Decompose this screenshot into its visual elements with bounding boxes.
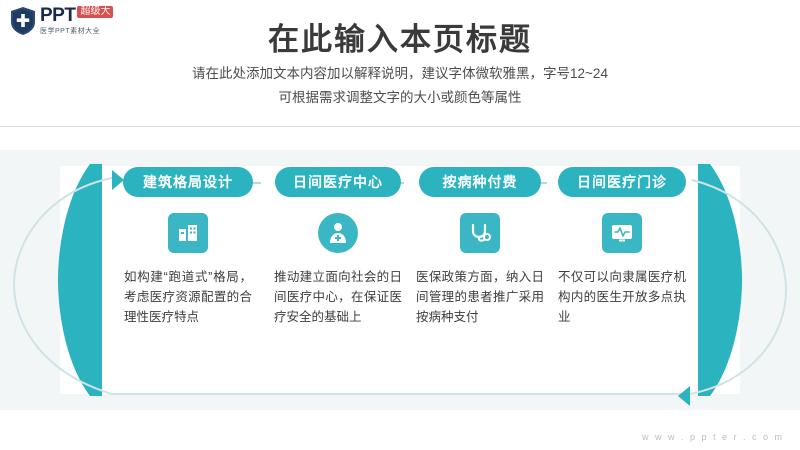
stethoscope-icon <box>460 213 500 253</box>
header-divider <box>0 126 800 127</box>
step-2-description: 推动建立面向社会的日间医疗中心，在保证医疗安全的基础上 <box>262 267 414 327</box>
building-layout-icon <box>168 213 208 253</box>
step-3-label[interactable]: 按病种付费 <box>419 167 541 197</box>
process-step-4[interactable]: 日间医疗门诊 不仅可以向隶属医疗机构内的医生开放多点执业 <box>546 150 698 327</box>
subtitle-line-1: 请在此处添加文本内容加以解释说明，建议字体微软雅黑，字号12~24 <box>0 62 800 86</box>
step-2-icon-wrap <box>262 213 414 253</box>
step-1-label[interactable]: 建筑格局设计 <box>123 167 253 197</box>
step-3-description: 医保政策方面，纳入日间管理的患者推广采用按病种支付 <box>404 267 556 327</box>
subtitle-line-2: 可根据需求调整文字的大小或颜色等属性 <box>0 86 800 110</box>
doctor-person-icon <box>318 213 358 253</box>
footer-site-url: w w w . p p t e r . c o m <box>642 432 784 442</box>
page-subtitle: 请在此处添加文本内容加以解释说明，建议字体微软雅黑，字号12~24 可根据需求调… <box>0 62 800 110</box>
step-4-icon-wrap <box>546 213 698 253</box>
page-title: 在此输入本页标题 <box>0 14 800 59</box>
process-columns: 建筑格局设计 如构建“跑道式”格局，考虑医疗资源配置的合理性医疗特点 日间医疗中… <box>0 150 800 410</box>
heartbeat-monitor-icon <box>602 213 642 253</box>
step-4-description: 不仅可以向隶属医疗机构内的医生开放多点执业 <box>546 267 698 327</box>
process-step-2[interactable]: 日间医疗中心 推动建立面向社会的日间医疗中心，在保证医疗安全的基础上 <box>262 150 414 327</box>
step-4-label[interactable]: 日间医疗门诊 <box>558 167 686 197</box>
process-step-3[interactable]: 按病种付费 医保政策方面，纳入日间管理的患者推广采用按病种支付 <box>404 150 556 327</box>
step-3-icon-wrap <box>404 213 556 253</box>
step-1-description: 如构建“跑道式”格局，考虑医疗资源配置的合理性医疗特点 <box>112 267 264 327</box>
process-step-1[interactable]: 建筑格局设计 如构建“跑道式”格局，考虑医疗资源配置的合理性医疗特点 <box>112 150 264 327</box>
step-1-icon-wrap <box>112 213 264 253</box>
step-2-label[interactable]: 日间医疗中心 <box>275 167 401 197</box>
